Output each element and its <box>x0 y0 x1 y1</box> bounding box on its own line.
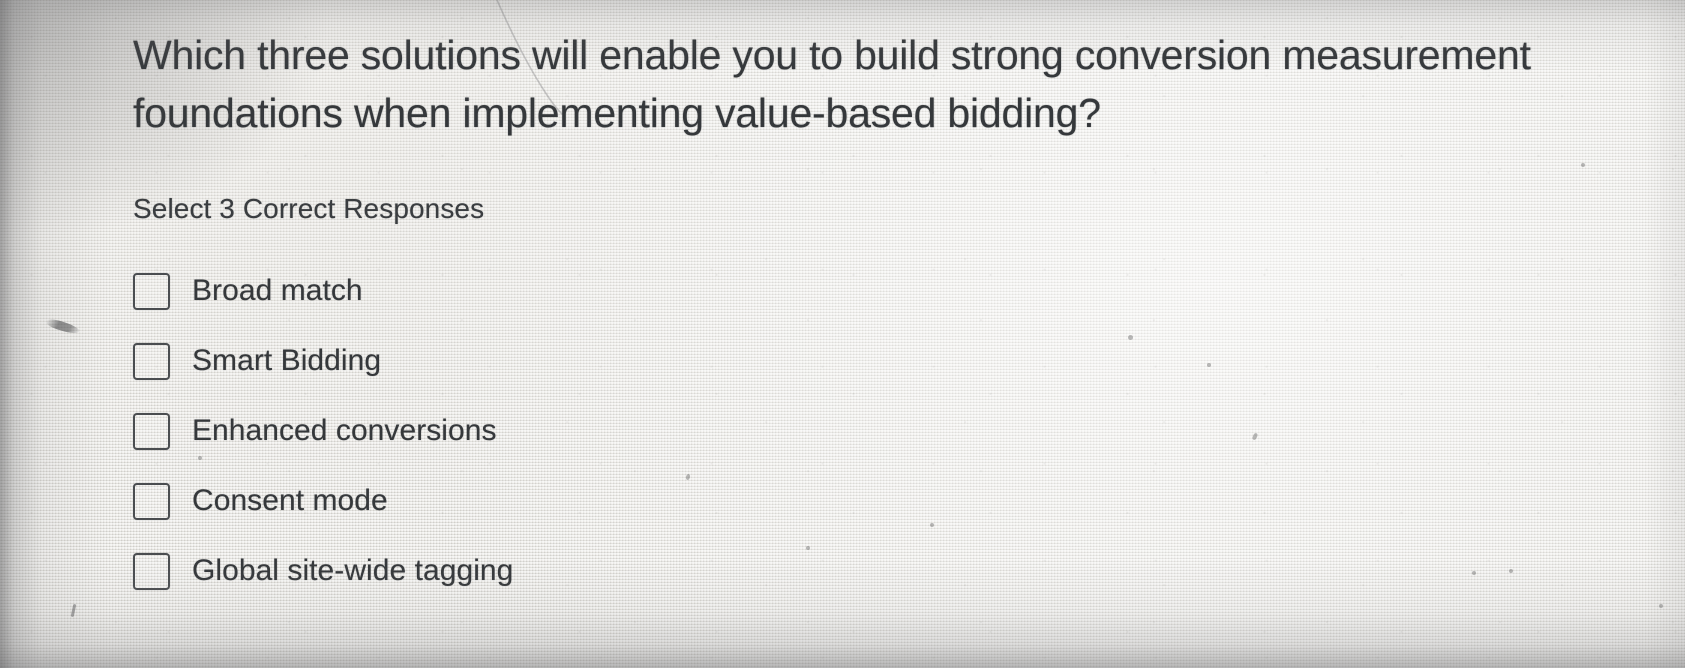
checkbox-icon-broad-match[interactable] <box>133 273 170 310</box>
checkbox-icon-global-site-wide-tagging[interactable] <box>133 553 170 590</box>
page-title: Which three solutions will enable you to… <box>133 26 1533 142</box>
checkbox-icon-smart-bidding[interactable] <box>133 343 170 380</box>
option-row-global-site-wide-tagging[interactable]: Global site-wide tagging <box>133 552 1033 590</box>
question-block: Which three solutions will enable you to… <box>133 26 1533 142</box>
option-label-broad-match: Broad match <box>192 273 363 309</box>
option-label-enhanced-conversions: Enhanced conversions <box>192 413 497 449</box>
option-row-consent-mode[interactable]: Consent mode <box>133 482 1033 520</box>
quiz-content: Which three solutions will enable you to… <box>0 0 1685 668</box>
checkbox-icon-consent-mode[interactable] <box>133 483 170 520</box>
selection-instruction: Select 3 Correct Responses <box>133 190 484 228</box>
checkbox-icon-enhanced-conversions[interactable] <box>133 413 170 450</box>
option-row-broad-match[interactable]: Broad match <box>133 272 1033 310</box>
option-row-enhanced-conversions[interactable]: Enhanced conversions <box>133 412 1033 450</box>
option-label-smart-bidding: Smart Bidding <box>192 343 381 379</box>
option-label-consent-mode: Consent mode <box>192 483 388 519</box>
option-label-global-site-wide-tagging: Global site-wide tagging <box>192 553 513 589</box>
option-row-smart-bidding[interactable]: Smart Bidding <box>133 342 1033 380</box>
options-list: Broad match Smart Bidding Enhanced conve… <box>133 272 1033 622</box>
